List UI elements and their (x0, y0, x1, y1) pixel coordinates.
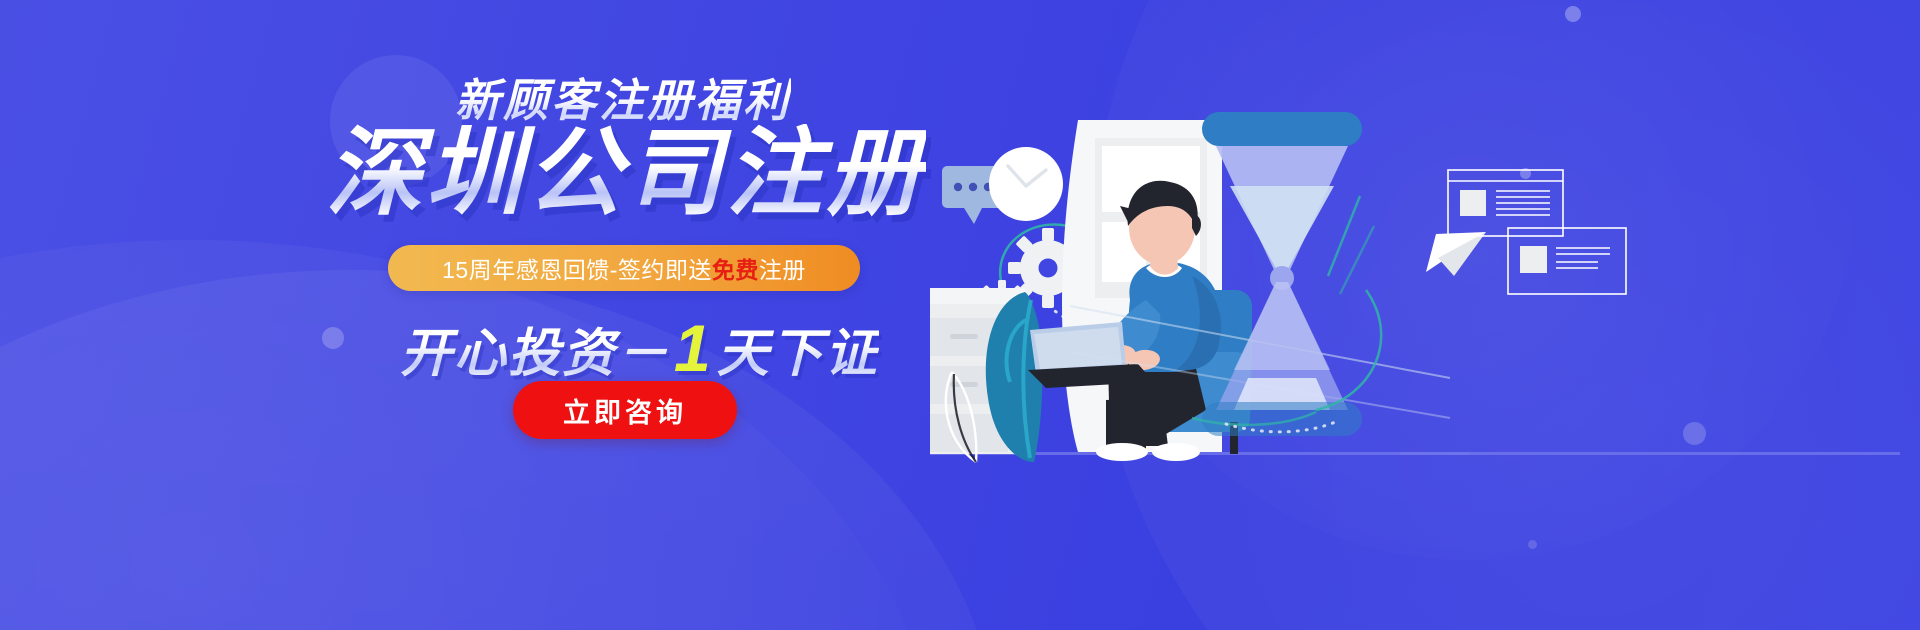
promo-prefix: 15周年感恩回馈-签约即送 (442, 257, 712, 283)
banner-copy: 新顾客注册福利 深圳公司注册 15周年感恩回馈-签约即送免费注册 开心投资－1天… (0, 0, 960, 630)
clock-icon (989, 147, 1063, 221)
banner-headline: 深圳公司注册 (326, 124, 926, 225)
promotional-banner: 新顾客注册福利 深圳公司注册 15周年感恩回馈-签约即送免费注册 开心投资－1天… (0, 0, 1920, 630)
document-card-top (1448, 170, 1563, 236)
consult-now-button[interactable]: 立即咨询 (513, 381, 737, 439)
banner-subline: 开心投资－1天下证 (400, 310, 879, 386)
subline-before: 开心投资－ (400, 325, 670, 383)
promo-pill-text: 15周年感恩回馈-签约即送免费注册 (442, 251, 806, 285)
paper-plane-icon (1426, 232, 1486, 276)
subline-after: 天下证 (717, 325, 879, 383)
subline-number: 1 (670, 311, 717, 385)
promo-suffix: 注册 (759, 257, 806, 283)
document-card-bottom (1508, 228, 1626, 294)
promo-pill: 15周年感恩回馈-签约即送免费注册 (388, 245, 860, 291)
hero-illustration (930, 0, 1920, 630)
promo-highlight: 免费 (712, 257, 759, 283)
